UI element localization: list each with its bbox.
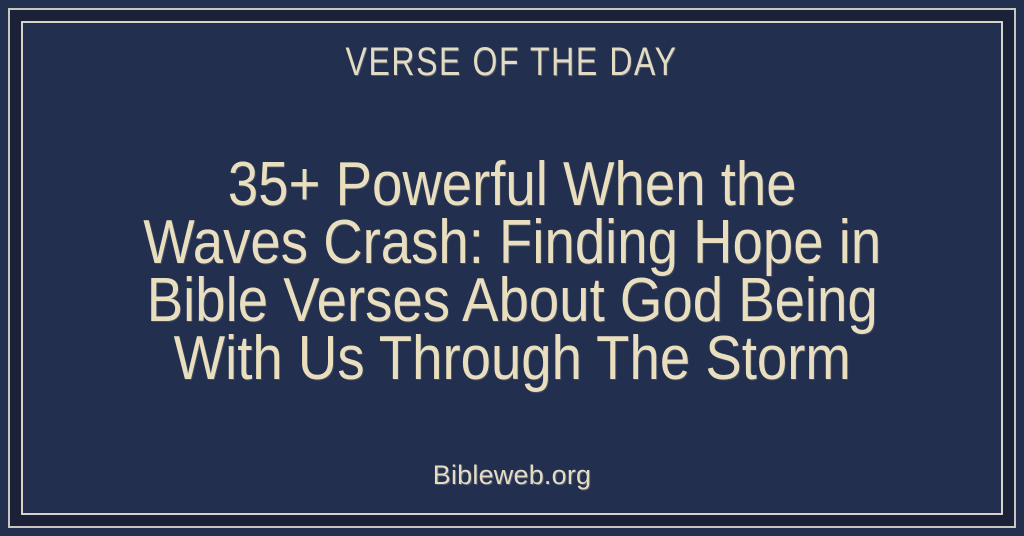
verse-of-the-day-card: VERSE OF THE DAY 35+ Powerful When the W… [0, 0, 1024, 536]
eyebrow-label: VERSE OF THE DAY [346, 40, 678, 84]
page-title: 35+ Powerful When the Waves Crash: Findi… [141, 156, 882, 388]
site-attribution: Bibleweb.org [433, 460, 592, 490]
card-content: VERSE OF THE DAY 35+ Powerful When the W… [23, 23, 1001, 513]
title-container: 35+ Powerful When the Waves Crash: Findi… [23, 84, 1001, 460]
